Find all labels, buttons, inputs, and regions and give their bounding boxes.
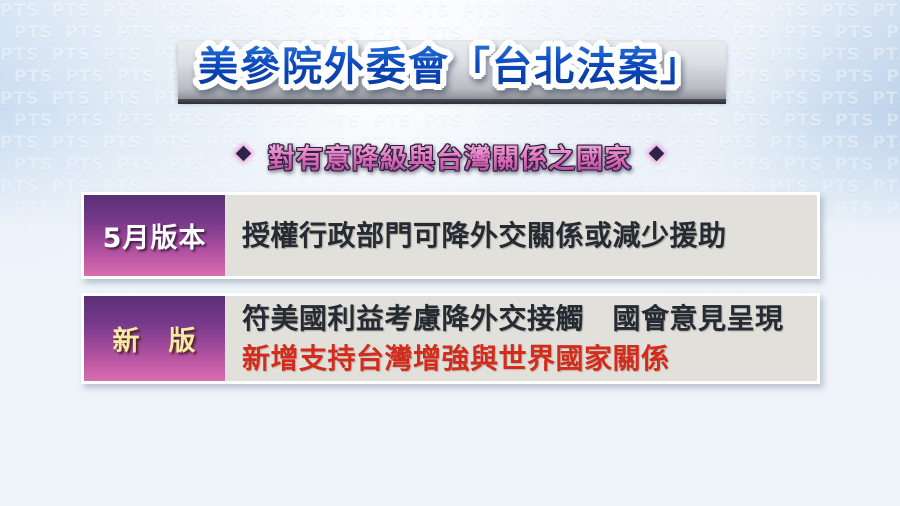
watermark-row: PTSPTSPTSPTSPTSPTSPTSPTSPTSPTSPTSPTSPTSP…: [0, 418, 900, 440]
broadcast-graphic: PTSPTSPTSPTSPTSPTSPTSPTSPTSPTSPTSPTSPTSP…: [0, 0, 900, 506]
subtitle-text: 對有意降級與台灣關係之國家: [268, 144, 632, 175]
watermark-row: PTSPTSPTSPTSPTSPTSPTSPTSPTSPTSPTSPTSPTSP…: [0, 0, 900, 22]
content-row: 5月版本 授權行政部門可降外交關係或減少援助: [81, 192, 820, 279]
row-body-line-highlight: 新增支持台灣增強與世界國家關係: [242, 339, 817, 379]
row-label-text: 5月版本: [103, 216, 207, 255]
subtitle: 對有意降級與台灣關係之國家: [0, 137, 900, 176]
row-body: 授權行政部門可降外交關係或減少援助: [225, 195, 817, 276]
content-row: 新 版 符美國利益考慮降外交接觸 國會意見呈現 新增支持台灣增強與世界國家關係: [81, 293, 820, 384]
watermark-row: PTSPTSPTSPTSPTSPTSPTSPTSPTSPTSPTSPTSPTSP…: [0, 462, 900, 484]
row-label-badge: 5月版本: [84, 195, 225, 276]
row-body-line: 符美國利益考慮降外交接觸 國會意見呈現: [242, 299, 817, 339]
page-title: 美參院外委會「台北法案」: [0, 38, 900, 96]
diamond-bullet-icon-left: [236, 146, 252, 162]
row-body: 符美國利益考慮降外交接觸 國會意見呈現 新增支持台灣增強與世界國家關係: [225, 296, 817, 381]
watermark-row: PTSPTSPTSPTSPTSPTSPTSPTSPTSPTSPTSPTSPTSP…: [0, 396, 900, 418]
watermark-row: PTSPTSPTSPTSPTSPTSPTSPTSPTSPTSPTSPTSPTSP…: [0, 110, 900, 132]
row-label-badge: 新 版: [84, 296, 225, 381]
watermark-row: PTSPTSPTSPTSPTSPTSPTSPTSPTSPTSPTSPTSPTSP…: [0, 440, 900, 462]
row-label-text: 新 版: [113, 319, 197, 358]
row-body-line: 授權行政部門可降外交關係或減少援助: [242, 219, 817, 253]
watermark-row: PTSPTSPTSPTSPTSPTSPTSPTSPTSPTSPTSPTSPTSP…: [0, 484, 900, 506]
diamond-bullet-icon-right: [649, 146, 665, 162]
